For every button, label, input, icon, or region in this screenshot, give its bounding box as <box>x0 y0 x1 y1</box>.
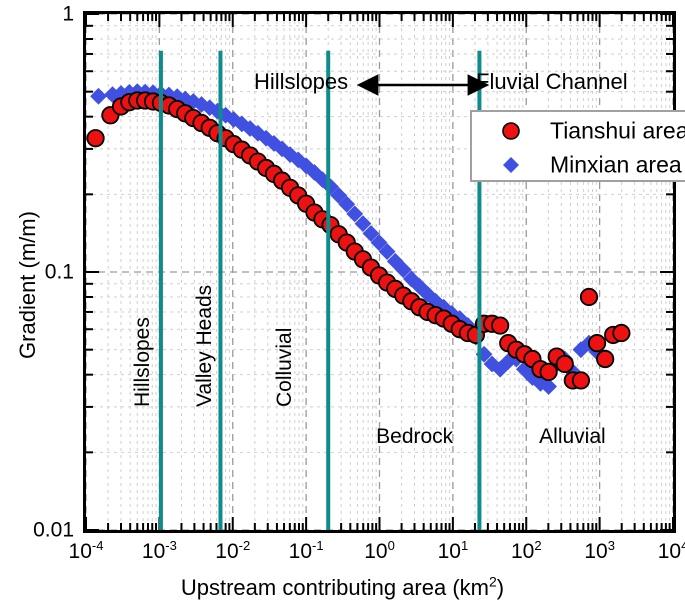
legend-entry-tianshui[interactable]: Tianshui area <box>472 114 685 148</box>
chart-legend[interactable]: Tianshui area Minxian area <box>470 110 685 182</box>
x-tick-label: 102 <box>511 541 542 562</box>
legend-diamond-marker-icon <box>500 154 522 176</box>
zone-label-valley-heads: Valley Heads <box>193 285 217 407</box>
y-axis-title: Gradient (m/m) <box>15 175 41 395</box>
chart-figure: HillslopesValley HeadsColluvialBedrockAl… <box>0 0 685 604</box>
y-tick-label: 1 <box>10 4 74 25</box>
annotation-label-fluvial-channel: Fluvial Channel <box>476 69 628 95</box>
x-axis-title-text: Upstream contributing area (km <box>181 575 489 600</box>
zone-label-hillslopes: Hillslopes <box>131 317 155 407</box>
x-axis-title-tail: ) <box>497 575 504 600</box>
zone-label-alluvial: Alluvial <box>539 425 606 449</box>
x-axis-title-exponent: 2 <box>489 574 497 590</box>
x-tick-label: 10-1 <box>289 541 324 562</box>
legend-entry-minxian[interactable]: Minxian area <box>472 148 685 182</box>
x-tick-label: 101 <box>438 541 469 562</box>
x-tick-label: 100 <box>364 541 395 562</box>
zone-label-bedrock: Bedrock <box>376 425 453 449</box>
x-axis-title: Upstream contributing area (km2) <box>0 575 685 601</box>
x-tick-label: 10-2 <box>215 541 250 562</box>
x-tick-label: 10-3 <box>142 541 177 562</box>
legend-circle-marker-icon <box>500 120 522 142</box>
x-tick-label: 103 <box>584 541 615 562</box>
legend-label-minxian: Minxian area <box>550 152 682 179</box>
hillslope-fluvial-annotation: Hillslopes Fluvial Channel <box>254 69 674 99</box>
legend-label-tianshui: Tianshui area <box>550 118 685 145</box>
x-tick-label: 10-4 <box>69 541 104 562</box>
x-tick-label: 104 <box>658 541 685 562</box>
plot-area: HillslopesValley HeadsColluvialBedrockAl… <box>83 11 676 533</box>
y-tick-label: 0.01 <box>10 520 74 541</box>
zone-label-colluvial: Colluvial <box>273 328 297 407</box>
